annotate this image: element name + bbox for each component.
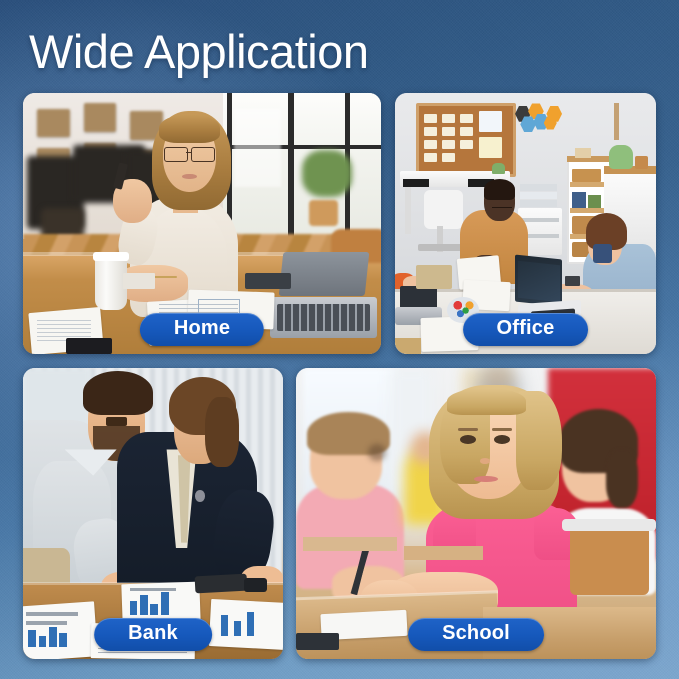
panel-office: Office	[395, 93, 656, 354]
panel-label-home: Home	[140, 313, 264, 346]
scene-school	[296, 368, 656, 659]
panel-label-school: School	[408, 618, 544, 651]
panel-label-bank: Bank	[94, 618, 212, 651]
panel-bank: Bank	[23, 368, 283, 659]
promo-graphic: Wide Application	[0, 0, 679, 679]
panel-school: School	[296, 368, 656, 659]
page-title: Wide Application	[29, 24, 368, 80]
panel-label-office: Office	[463, 313, 589, 346]
panel-home: Home	[23, 93, 381, 354]
scene-bank	[23, 368, 283, 659]
